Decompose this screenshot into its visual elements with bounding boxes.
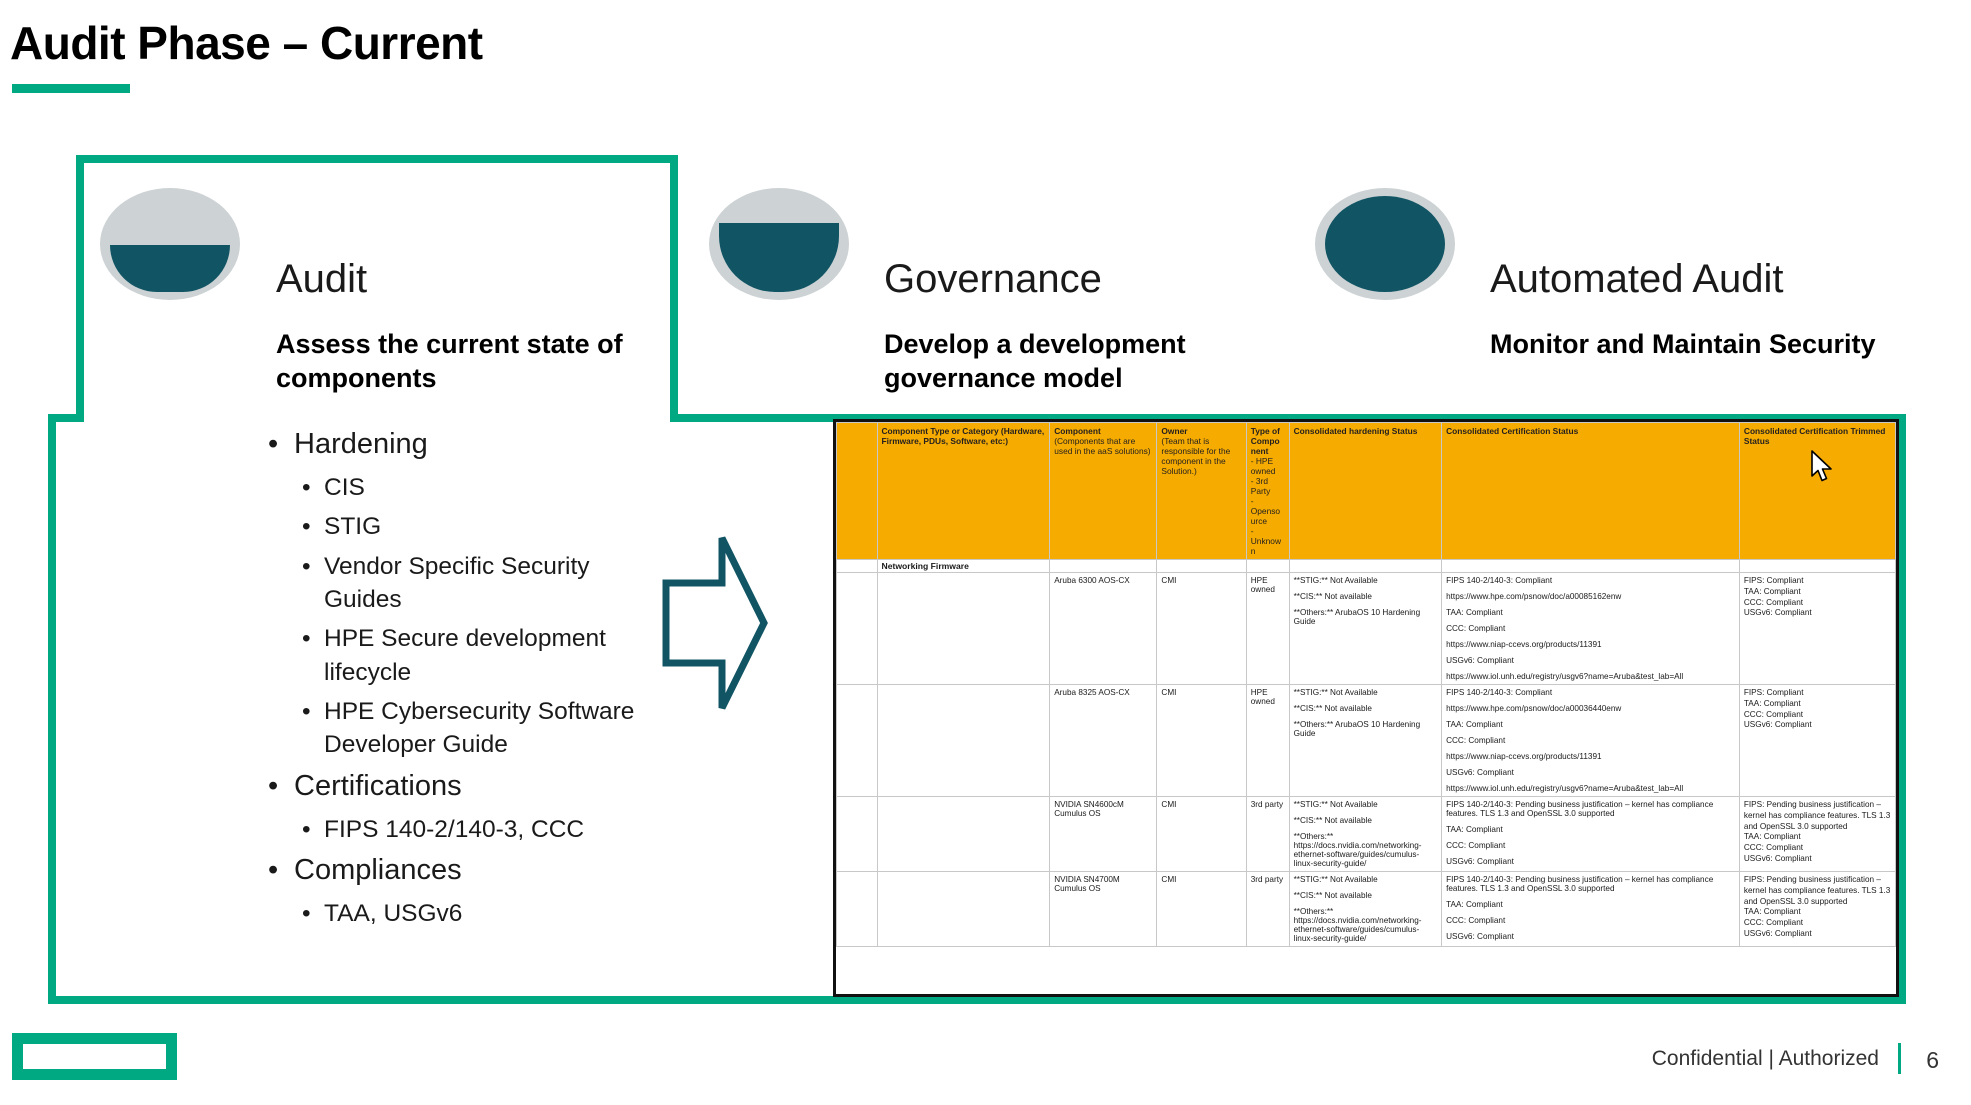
bullet-subitem-label: HPE Secure development lifecycle bbox=[324, 622, 658, 689]
cell-line: TAA: Compliant bbox=[1446, 900, 1735, 909]
cell-line: CCC: Compliant bbox=[1744, 598, 1891, 609]
header-note: (Components that are used in the aaS sol… bbox=[1054, 436, 1152, 456]
cell-line: TAA: Compliant bbox=[1744, 699, 1891, 710]
mouse-cursor-icon bbox=[1810, 450, 1836, 489]
group-empty-cell bbox=[1442, 560, 1740, 573]
bullet-dot-icon: • bbox=[302, 550, 324, 617]
audit-bullet-list: •Hardening•CIS•STIG•Vendor Specific Secu… bbox=[268, 420, 658, 931]
cell-line: TAA: Compliant bbox=[1744, 832, 1891, 843]
header-line: - Opensource bbox=[1251, 496, 1285, 526]
group-empty-cell bbox=[1246, 560, 1289, 573]
table-header-cell-5[interactable]: Consolidated hardening Status bbox=[1289, 423, 1441, 560]
bullet-dot-icon: • bbox=[302, 813, 324, 846]
table-group-row[interactable]: Networking Firmware bbox=[837, 560, 1896, 573]
bullet-subitem: •HPE Cybersecurity Software Developer Gu… bbox=[302, 695, 658, 762]
right-arrow-icon bbox=[660, 528, 770, 723]
bullet-group: •Compliances•TAA, USGv6 bbox=[268, 850, 658, 930]
table-header-cell-4[interactable]: Type of Component- HPE owned- 3rd Party-… bbox=[1246, 423, 1289, 560]
group-empty-cell bbox=[1050, 560, 1157, 573]
table-header-cell-3[interactable]: Owner(Team that is responsible for the c… bbox=[1157, 423, 1246, 560]
cell-component: NVIDIA SN4700M Cumulus OS bbox=[1050, 872, 1157, 947]
header-title: Consolidated Certification Status bbox=[1446, 426, 1735, 436]
header-note: (Team that is responsible for the compon… bbox=[1161, 436, 1241, 476]
table-row[interactable]: NVIDIA SN4600cM Cumulus OSCMI3rd party**… bbox=[837, 797, 1896, 872]
cell-category bbox=[877, 573, 1050, 685]
cell-owner: CMI bbox=[1157, 685, 1246, 797]
cell-line: CCC: Compliant bbox=[1446, 916, 1735, 925]
bullet-subitem: •TAA, USGv6 bbox=[302, 897, 658, 930]
phase-subtitle-automated-audit: Monitor and Maintain Security bbox=[1490, 327, 1890, 361]
bullet-subitem-label: TAA, USGv6 bbox=[324, 897, 658, 930]
bullet-group: •Certifications•FIPS 140-2/140-3, CCC bbox=[268, 766, 658, 846]
icon-fill bbox=[1325, 196, 1445, 292]
cell-line: TAA: Compliant bbox=[1446, 608, 1735, 617]
table-header-cell-2[interactable]: Component(Components that are used in th… bbox=[1050, 423, 1157, 560]
bullet-dot-icon: • bbox=[268, 850, 294, 891]
group-spacer bbox=[837, 560, 878, 573]
cell-line: https://www.iol.unh.edu/registry/usgv6?n… bbox=[1446, 672, 1735, 681]
cell-line: FIPS: Pending business justification – k… bbox=[1744, 800, 1891, 832]
bullet-sublist: •CIS•STIG•Vendor Specific Security Guide… bbox=[302, 471, 658, 762]
table-row[interactable]: NVIDIA SN4700M Cumulus OSCMI3rd party**S… bbox=[837, 872, 1896, 947]
cell-line: **CIS:** Not available bbox=[1294, 704, 1437, 713]
phase-name-automated-audit: Automated Audit bbox=[1490, 257, 1784, 302]
cell-hardening-status: **STIG:** Not Available**CIS:** Not avai… bbox=[1289, 872, 1441, 947]
cell-line: **CIS:** Not available bbox=[1294, 816, 1437, 825]
cell-certification-trimmed-status: FIPS: Pending business justification – k… bbox=[1739, 872, 1895, 947]
cell-certification-status: FIPS 140-2/140-3: Complianthttps://www.h… bbox=[1442, 573, 1740, 685]
bullet-dot-icon: • bbox=[302, 695, 324, 762]
header-title: Component Type or Category (Hardware, Fi… bbox=[882, 426, 1046, 446]
cell-line: **STIG:** Not Available bbox=[1294, 800, 1437, 809]
cell-line: CCC: Compliant bbox=[1744, 918, 1891, 929]
bullet-subitem-label: Vendor Specific Security Guides bbox=[324, 550, 658, 617]
cell-hardening-status: **STIG:** Not Available**CIS:** Not avai… bbox=[1289, 685, 1441, 797]
cell-line: CCC: Compliant bbox=[1446, 736, 1735, 745]
cell-line: **STIG:** Not Available bbox=[1294, 576, 1437, 585]
cell-component: NVIDIA SN4600cM Cumulus OS bbox=[1050, 797, 1157, 872]
icon-fill bbox=[110, 245, 230, 292]
cell-line: CCC: Compliant bbox=[1744, 710, 1891, 721]
cell-line: https://www.iol.unh.edu/registry/usgv6?n… bbox=[1446, 784, 1735, 793]
bullet-subitem: •Vendor Specific Security Guides bbox=[302, 550, 658, 617]
bullet-subitem: •HPE Secure development lifecycle bbox=[302, 622, 658, 689]
header-title: Consolidated Certification Trimmed Statu… bbox=[1744, 426, 1891, 446]
cell-owner: CMI bbox=[1157, 573, 1246, 685]
page-title: Audit Phase – Current bbox=[10, 16, 483, 70]
cell-line: TAA: Compliant bbox=[1744, 587, 1891, 598]
cell-line: CCC: Compliant bbox=[1446, 624, 1735, 633]
header-title: Owner bbox=[1161, 426, 1241, 436]
two-thirds-filled-circle-icon bbox=[709, 188, 849, 300]
half-filled-circle-icon bbox=[100, 188, 240, 300]
cell-component: Aruba 6300 AOS-CX bbox=[1050, 573, 1157, 685]
cell-certification-trimmed-status: FIPS: CompliantTAA: CompliantCCC: Compli… bbox=[1739, 685, 1895, 797]
cell-line: https://www.hpe.com/psnow/doc/a00036440e… bbox=[1446, 704, 1735, 713]
cell-line: FIPS 140-2/140-3: Compliant bbox=[1446, 688, 1735, 697]
footer-divider bbox=[1898, 1043, 1901, 1074]
row-spacer bbox=[837, 797, 878, 872]
cell-type: 3rd party bbox=[1246, 872, 1289, 947]
header-title: Consolidated hardening Status bbox=[1294, 426, 1437, 436]
cell-line: USGv6: Compliant bbox=[1744, 929, 1891, 940]
cell-certification-status: FIPS 140-2/140-3: Pending business justi… bbox=[1442, 872, 1740, 947]
cell-line: TAA: Compliant bbox=[1446, 825, 1735, 834]
cell-line: FIPS 140-2/140-3: Compliant bbox=[1446, 576, 1735, 585]
full-filled-circle-icon bbox=[1315, 188, 1455, 300]
row-spacer bbox=[837, 573, 878, 685]
cell-hardening-status: **STIG:** Not Available**CIS:** Not avai… bbox=[1289, 573, 1441, 685]
cell-line: https://www.niap-ccevs.org/products/1139… bbox=[1446, 752, 1735, 761]
cell-type: HPE owned bbox=[1246, 685, 1289, 797]
header-title: Type of Component bbox=[1251, 426, 1285, 456]
bullet-group: •Hardening•CIS•STIG•Vendor Specific Secu… bbox=[268, 424, 658, 762]
cell-line: **STIG:** Not Available bbox=[1294, 875, 1437, 884]
cell-category bbox=[877, 872, 1050, 947]
bullet-dot-icon: • bbox=[302, 897, 324, 930]
cell-line: CCC: Compliant bbox=[1446, 841, 1735, 850]
group-empty-cell bbox=[1157, 560, 1246, 573]
header-title: Component bbox=[1054, 426, 1152, 436]
group-empty-cell bbox=[1289, 560, 1441, 573]
bullet-subitem: •STIG bbox=[302, 510, 658, 543]
header-line: - Unknown bbox=[1251, 526, 1285, 556]
bullet-sublist: •FIPS 140-2/140-3, CCC bbox=[302, 813, 658, 846]
cell-line: FIPS 140-2/140-3: Pending business justi… bbox=[1446, 875, 1735, 893]
cell-owner: CMI bbox=[1157, 797, 1246, 872]
row-spacer bbox=[837, 872, 878, 947]
cell-line: **Others:** https://docs.nvidia.com/netw… bbox=[1294, 907, 1437, 943]
group-empty-cell bbox=[1739, 560, 1895, 573]
table-header-cell-1[interactable]: Component Type or Category (Hardware, Fi… bbox=[877, 423, 1050, 560]
bullet-subitem-label: STIG bbox=[324, 510, 658, 543]
cell-line: **Others:** ArubaOS 10 Hardening Guide bbox=[1294, 608, 1437, 626]
header-line: - HPE owned bbox=[1251, 456, 1285, 476]
cell-component: Aruba 8325 AOS-CX bbox=[1050, 685, 1157, 797]
cell-line: CCC: Compliant bbox=[1744, 843, 1891, 854]
cell-line: FIPS: Compliant bbox=[1744, 576, 1891, 587]
cell-certification-status: FIPS 140-2/140-3: Pending business justi… bbox=[1442, 797, 1740, 872]
icon-fill bbox=[719, 223, 839, 292]
cell-line: FIPS 140-2/140-3: Pending business justi… bbox=[1446, 800, 1735, 818]
cell-line: USGv6: Compliant bbox=[1446, 656, 1735, 665]
bullet-dot-icon: • bbox=[268, 766, 294, 807]
bullet-label: Hardening bbox=[294, 424, 658, 465]
header-line: - 3rd Party bbox=[1251, 476, 1285, 496]
bullet-dot-icon: • bbox=[302, 622, 324, 689]
footer-classification: Confidential | Authorized bbox=[1652, 1047, 1879, 1071]
table-header-row: Component Type or Category (Hardware, Fi… bbox=[837, 423, 1896, 560]
bullet-label: Certifications bbox=[294, 766, 658, 807]
cell-line: TAA: Compliant bbox=[1744, 907, 1891, 918]
bullet-subitem-label: FIPS 140-2/140-3, CCC bbox=[324, 813, 658, 846]
phase-name-audit: Audit bbox=[276, 257, 367, 302]
table-row[interactable]: Aruba 6300 AOS-CXCMIHPE owned**STIG:** N… bbox=[837, 573, 1896, 685]
cell-hardening-status: **STIG:** Not Available**CIS:** Not avai… bbox=[1289, 797, 1441, 872]
phase-subtitle-governance: Develop a development governance model bbox=[884, 327, 1284, 396]
bullet-subitem: •CIS bbox=[302, 471, 658, 504]
group-label: Networking Firmware bbox=[877, 560, 1050, 573]
component-audit-table[interactable]: Component Type or Category (Hardware, Fi… bbox=[833, 419, 1899, 997]
cell-line: USGv6: Compliant bbox=[1744, 720, 1891, 731]
cell-line: **Others:** https://docs.nvidia.com/netw… bbox=[1294, 832, 1437, 868]
cell-type: 3rd party bbox=[1246, 797, 1289, 872]
table-header-cell-7[interactable]: Consolidated Certification Trimmed Statu… bbox=[1739, 423, 1895, 560]
cell-line: FIPS: Pending business justification – k… bbox=[1744, 875, 1891, 907]
bullet-subitem-label: CIS bbox=[324, 471, 658, 504]
table-header-cell-6[interactable]: Consolidated Certification Status bbox=[1442, 423, 1740, 560]
cell-line: **Others:** ArubaOS 10 Hardening Guide bbox=[1294, 720, 1437, 738]
bullet-dot-icon: • bbox=[268, 424, 294, 465]
cell-line: TAA: Compliant bbox=[1446, 720, 1735, 729]
bullet-dot-icon: • bbox=[302, 471, 324, 504]
cell-line: https://www.hpe.com/psnow/doc/a00085162e… bbox=[1446, 592, 1735, 601]
cell-category bbox=[877, 685, 1050, 797]
bullet-subitem: •FIPS 140-2/140-3, CCC bbox=[302, 813, 658, 846]
cell-owner: CMI bbox=[1157, 872, 1246, 947]
cell-line: USGv6: Compliant bbox=[1744, 608, 1891, 619]
cell-line: FIPS: Compliant bbox=[1744, 688, 1891, 699]
bullet-subitem-label: HPE Cybersecurity Software Developer Gui… bbox=[324, 695, 658, 762]
cell-line: **CIS:** Not available bbox=[1294, 592, 1437, 601]
footer-page-number: 6 bbox=[1926, 1047, 1939, 1074]
title-underline-rule bbox=[12, 84, 130, 93]
cell-type: HPE owned bbox=[1246, 573, 1289, 685]
phase-name-governance: Governance bbox=[884, 257, 1102, 302]
bullet-sublist: •TAA, USGv6 bbox=[302, 897, 658, 930]
hpe-logo bbox=[12, 1033, 177, 1080]
row-spacer bbox=[837, 685, 878, 797]
phase-subtitle-audit: Assess the current state of components bbox=[276, 327, 696, 396]
cell-line: https://www.niap-ccevs.org/products/1139… bbox=[1446, 640, 1735, 649]
bullet-label: Compliances bbox=[294, 850, 658, 891]
cell-line: **STIG:** Not Available bbox=[1294, 688, 1437, 697]
table-header-cell-0[interactable] bbox=[837, 423, 878, 560]
cell-certification-trimmed-status: FIPS: CompliantTAA: CompliantCCC: Compli… bbox=[1739, 573, 1895, 685]
cell-category bbox=[877, 797, 1050, 872]
bullet-dot-icon: • bbox=[302, 510, 324, 543]
cell-certification-trimmed-status: FIPS: Pending business justification – k… bbox=[1739, 797, 1895, 872]
cell-line: USGv6: Compliant bbox=[1446, 857, 1735, 866]
cell-certification-status: FIPS 140-2/140-3: Complianthttps://www.h… bbox=[1442, 685, 1740, 797]
table-row[interactable]: Aruba 8325 AOS-CXCMIHPE owned**STIG:** N… bbox=[837, 685, 1896, 797]
cell-line: USGv6: Compliant bbox=[1446, 768, 1735, 777]
cell-line: USGv6: Compliant bbox=[1446, 932, 1735, 941]
slide: Audit Phase – Current Audit Assess the c… bbox=[0, 0, 1971, 1105]
cell-line: **CIS:** Not available bbox=[1294, 891, 1437, 900]
cell-line: USGv6: Compliant bbox=[1744, 854, 1891, 865]
